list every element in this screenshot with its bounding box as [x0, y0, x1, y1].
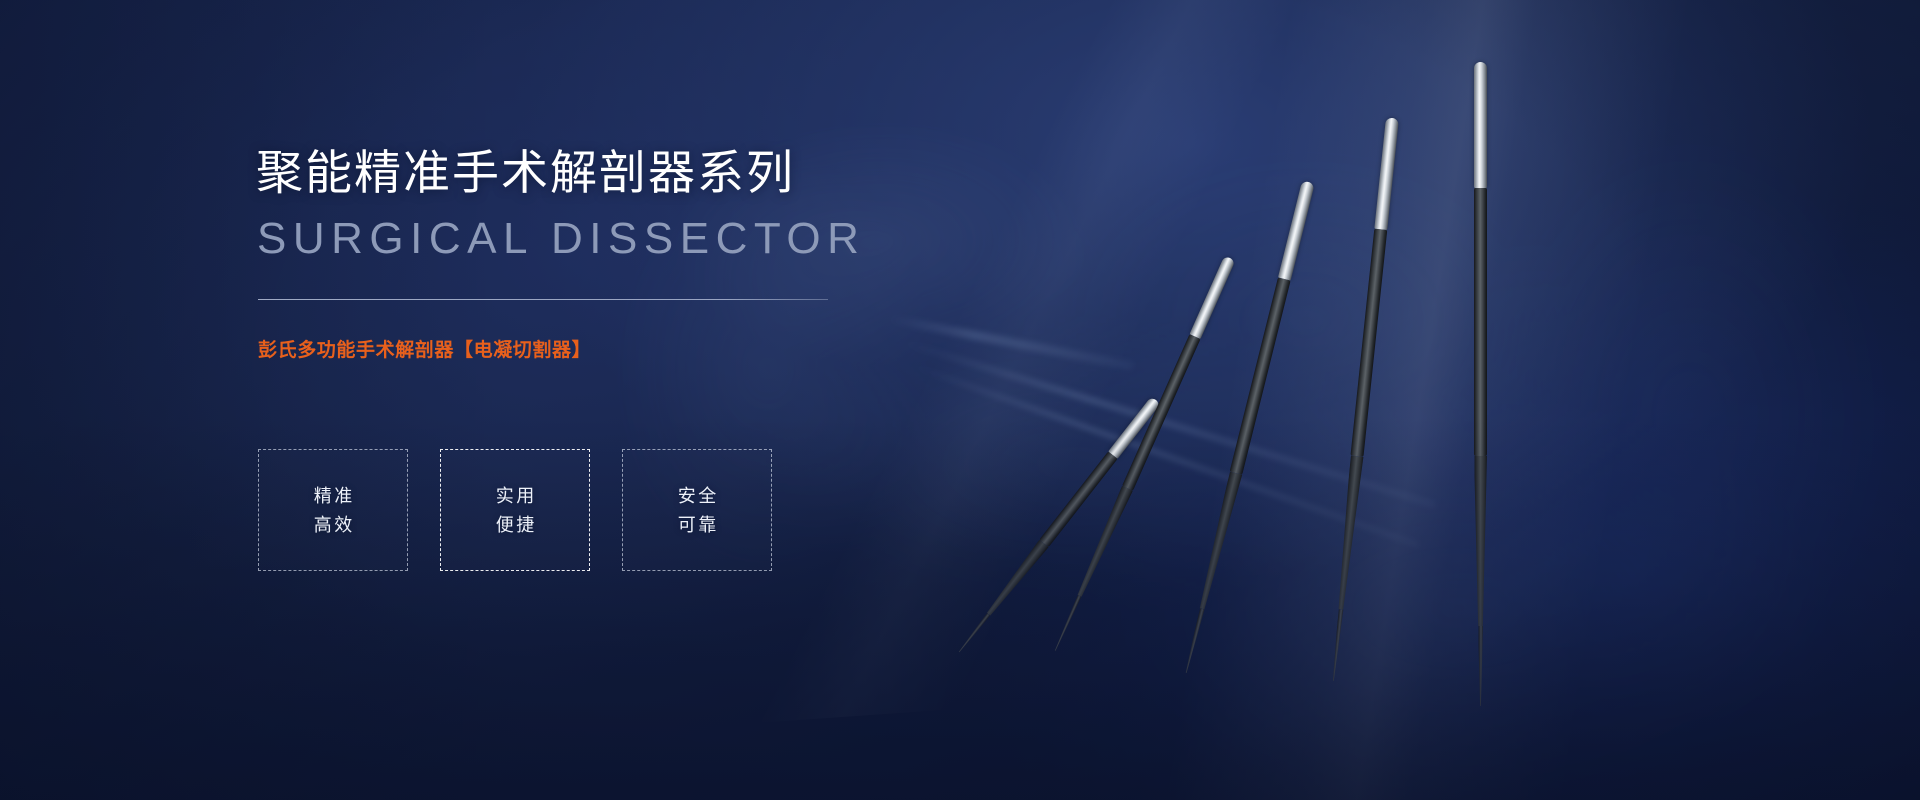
dissector-5-taper: [1474, 456, 1487, 626]
banner-title-en: SURGICAL DISSECTOR: [257, 213, 865, 265]
dissector-5-icon: [1474, 62, 1487, 706]
product-instruments-image: [1150, 0, 1920, 800]
dissector-5-needle-point: [1478, 626, 1483, 706]
dissector-3-icon: [1180, 180, 1315, 674]
dissector-3-shaft: [1230, 277, 1291, 474]
title-divider: [258, 299, 828, 300]
dissector-2-metal-tip: [1190, 256, 1236, 339]
dissector-4-shaft: [1350, 229, 1387, 457]
feature-box-2[interactable]: 实用便捷: [440, 449, 590, 571]
dissector-4-metal-tip: [1374, 117, 1399, 230]
banner-content: 聚能精准手术解剖器系列 SURGICAL DISSECTOR 彭氏多功能手术解剖…: [256, 0, 1076, 800]
dissector-3-needle-point: [1184, 608, 1205, 673]
feature-box-3-line2: 可靠: [675, 516, 719, 534]
banner-subtitle-cn: 彭氏多功能手术解剖器【电凝切割器】: [258, 339, 591, 364]
feature-box-3[interactable]: 安全可靠: [622, 449, 772, 571]
feature-box-3-line1: 安全: [675, 487, 719, 505]
feature-box-2-line2: 便捷: [493, 516, 537, 534]
dissector-5-metal-tip: [1474, 62, 1487, 188]
dissector-4-taper: [1334, 455, 1363, 610]
feature-box-1[interactable]: 精准高效: [258, 449, 408, 571]
dissector-4-icon: [1327, 117, 1399, 681]
dissector-3-taper: [1196, 472, 1242, 611]
dissector-4-needle-point: [1331, 609, 1343, 681]
dissector-3-metal-tip: [1278, 180, 1315, 280]
banner-title-cn: 聚能精准手术解剖器系列: [256, 145, 795, 200]
feature-box-2-line1: 实用: [493, 487, 537, 505]
feature-box-1-line2: 高效: [311, 516, 355, 534]
hero-banner: 聚能精准手术解剖器系列 SURGICAL DISSECTOR 彭氏多功能手术解剖…: [0, 0, 1920, 800]
feature-box-1-line1: 精准: [311, 487, 355, 505]
dissector-5-shaft: [1474, 188, 1487, 456]
feature-box-group: 精准高效实用便捷安全可靠: [258, 449, 772, 571]
